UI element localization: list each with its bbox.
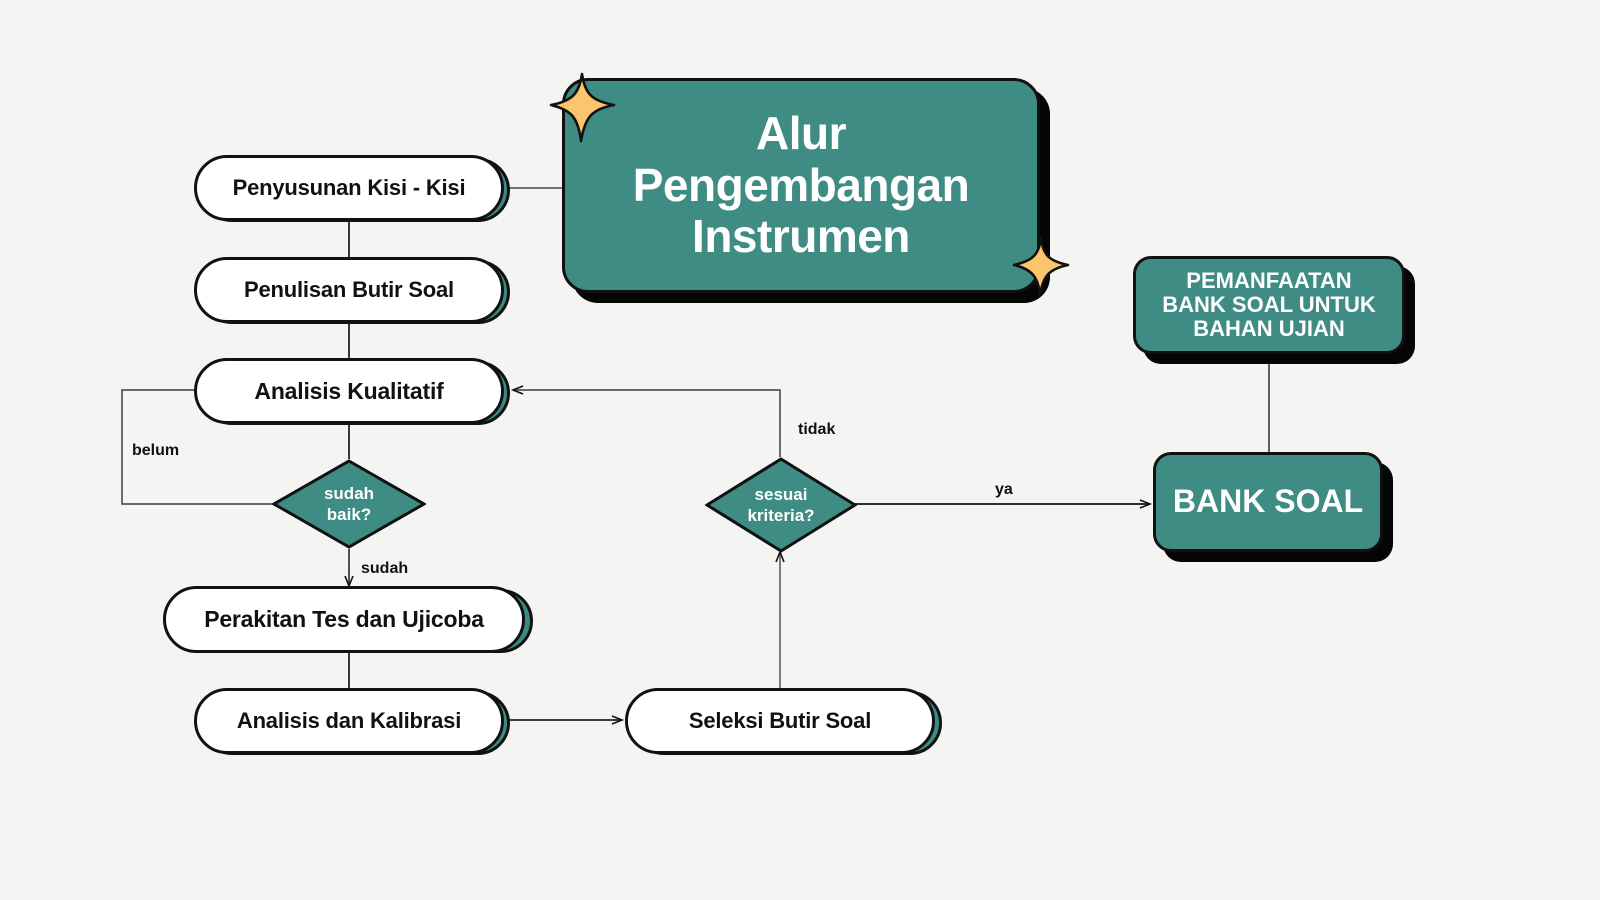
node-penulisan-butir-soal[interactable]: Penulisan Butir Soal xyxy=(194,257,504,323)
node-label-line-1: PEMANFAATAN xyxy=(1162,269,1375,293)
node-label: Penulisan Butir Soal xyxy=(244,277,454,303)
node-sudah-baik[interactable]: sudah baik? xyxy=(272,459,426,549)
node-pemanfaatan-bank-soal[interactable]: PEMANFAATAN BANK SOAL UNTUK BAHAN UJIAN xyxy=(1133,256,1405,354)
node-label: Analisis dan Kalibrasi xyxy=(237,708,461,734)
flowchart-canvas: Alur Pengembangan Instrumen Penyusunan K… xyxy=(0,0,1600,900)
title-line-2: Pengembangan xyxy=(633,160,970,212)
node-label-line-3: BAHAN UJIAN xyxy=(1162,317,1375,341)
title-line-3: Instrumen xyxy=(633,211,970,263)
sparkle-icon-bottom-right xyxy=(1011,236,1071,298)
edge-label-belum: belum xyxy=(132,442,179,460)
edge-tidak-loop xyxy=(513,390,780,457)
node-label: Penyusunan Kisi - Kisi xyxy=(233,175,466,201)
title-card: Alur Pengembangan Instrumen xyxy=(562,78,1040,293)
sparkle-icon-top-left xyxy=(548,72,618,144)
node-sesuai-kriteria[interactable]: sesuai kriteria? xyxy=(705,457,857,553)
node-seleksi-butir-soal[interactable]: Seleksi Butir Soal xyxy=(625,688,935,754)
node-label-line-2: BANK SOAL UNTUK xyxy=(1162,293,1375,317)
node-analisis-dan-kalibrasi[interactable]: Analisis dan Kalibrasi xyxy=(194,688,504,754)
edge-label-tidak: tidak xyxy=(798,421,835,439)
node-label: Analisis Kualitatif xyxy=(254,378,443,405)
node-label: Seleksi Butir Soal xyxy=(689,708,871,734)
node-label: Perakitan Tes dan Ujicoba xyxy=(204,606,484,633)
node-label: BANK SOAL xyxy=(1173,484,1363,519)
node-perakitan-tes-dan-ujicoba[interactable]: Perakitan Tes dan Ujicoba xyxy=(163,586,525,653)
edge-label-ya: ya xyxy=(995,481,1013,499)
node-bank-soal[interactable]: BANK SOAL xyxy=(1153,452,1383,552)
node-analisis-kualitatif[interactable]: Analisis Kualitatif xyxy=(194,358,504,424)
node-penyusunan-kisi-kisi[interactable]: Penyusunan Kisi - Kisi xyxy=(194,155,504,221)
edge-label-sudah: sudah xyxy=(361,560,408,578)
title-line-1: Alur xyxy=(633,108,970,160)
